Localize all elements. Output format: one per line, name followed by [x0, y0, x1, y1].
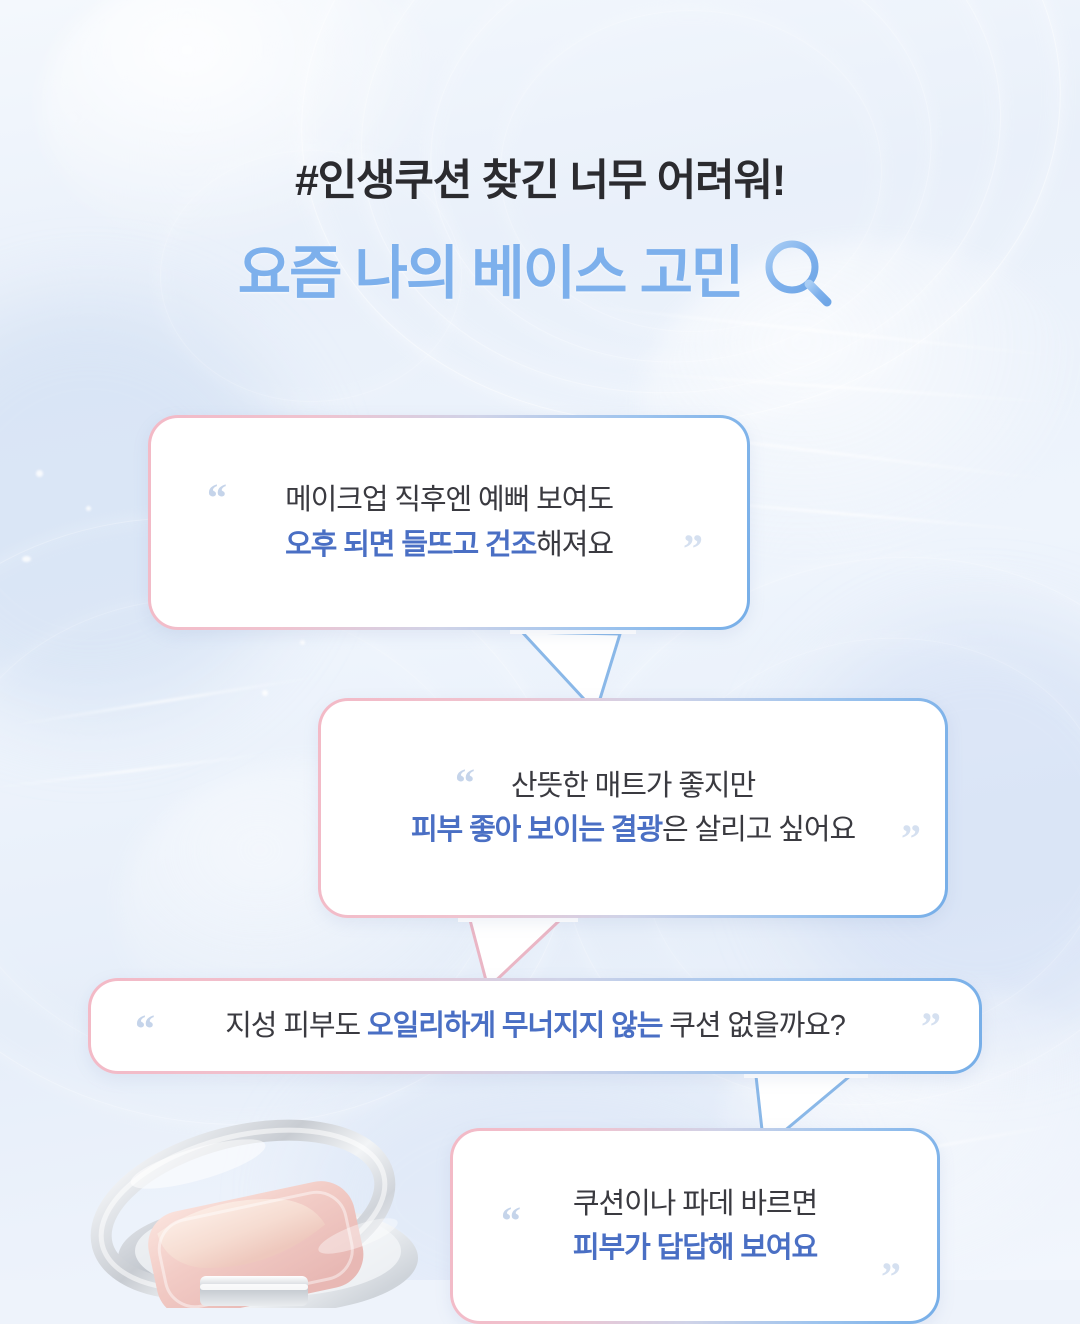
speech-bubble-3[interactable]: “ ” 지성 피부도 오일리하게 무너지지 않는 쿠션 없을까요? — [88, 978, 982, 1074]
sparkle — [300, 640, 305, 645]
magnifier-icon — [756, 234, 842, 320]
speech-bubble-1-text: 메이크업 직후엔 예뻐 보여도 오후 되면 들뜨고 건조해져요 — [285, 478, 613, 566]
bubble-1-line-2: 오후 되면 들뜨고 건조해져요 — [285, 523, 613, 567]
open-quote-icon: “ — [455, 763, 475, 803]
page-headline: #인생쿠션 찾긴 너무 어려워! — [0, 146, 1080, 208]
bubble-1-line-1-plain: 메이크업 직후엔 예뻐 보여도 — [285, 484, 613, 516]
bubble-2-line-2-plain: 은 살리고 싶어요 — [662, 814, 855, 846]
speech-bubble-3-body: “ ” 지성 피부도 오일리하게 무너지지 않는 쿠션 없을까요? — [91, 981, 979, 1071]
speech-bubble-1[interactable]: “ ” 메이크업 직후엔 예뻐 보여도 오후 되면 들뜨고 건조해져요 — [148, 415, 750, 630]
sparkle — [36, 470, 43, 477]
close-quote-icon: ” — [921, 1007, 941, 1047]
page-subheadline-row: 요즘 나의 베이스 고민 — [0, 228, 1080, 320]
bubble-4-line-1-plain: 쿠션이나 파데 바르면 — [573, 1188, 817, 1220]
bubble-4-line-1: 쿠션이나 파데 바르면 — [573, 1182, 817, 1226]
bubble-2-line-2: 피부 좋아 보이는 결광은 살리고 싶어요 — [411, 808, 855, 852]
bubble-3-line-1: 지성 피부도 오일리하게 무너지지 않는 쿠션 없을까요? — [225, 1004, 845, 1048]
bubble-2-line-1: 산뜻한 매트가 좋지만 — [411, 764, 855, 808]
speech-bubble-3-text: 지성 피부도 오일리하게 무너지지 않는 쿠션 없을까요? — [225, 1004, 845, 1048]
bubble-2-line-1-plain: 산뜻한 매트가 좋지만 — [511, 770, 755, 802]
bubble-1-line-2-bold: 오후 되면 들뜨고 건조 — [285, 529, 536, 561]
speech-bubble-4-text: 쿠션이나 파데 바르면 피부가 답답해 보여요 — [573, 1182, 817, 1270]
speech-bubble-2-text: 산뜻한 매트가 좋지만 피부 좋아 보이는 결광은 살리고 싶어요 — [411, 764, 855, 852]
bubble-4-line-2-bold: 피부가 답답해 보여요 — [573, 1232, 817, 1264]
speech-bubble-2-body: “ ” 산뜻한 매트가 좋지만 피부 좋아 보이는 결광은 살리고 싶어요 — [321, 701, 945, 915]
sparkle — [22, 556, 31, 562]
close-quote-icon: ” — [901, 819, 921, 859]
open-quote-icon: “ — [135, 1009, 155, 1049]
sparkle — [262, 690, 268, 696]
open-quote-icon: “ — [207, 478, 227, 518]
bubble-4-line-2: 피부가 답답해 보여요 — [573, 1226, 817, 1270]
speech-bubble-4-body: “ ” 쿠션이나 파데 바르면 피부가 답답해 보여요 — [453, 1131, 937, 1321]
speech-bubble-2[interactable]: “ ” 산뜻한 매트가 좋지만 피부 좋아 보이는 결광은 살리고 싶어요 — [318, 698, 948, 918]
sparkle — [86, 506, 91, 511]
bubble-3-line-1-plain2: 쿠션 없을까요? — [662, 1010, 844, 1042]
page-subheadline: 요즘 나의 베이스 고민 — [238, 241, 743, 308]
bubble-2-line-2-bold: 피부 좋아 보이는 결광 — [411, 814, 662, 846]
close-quote-icon: ” — [881, 1257, 901, 1297]
speech-bubble-4[interactable]: “ ” 쿠션이나 파데 바르면 피부가 답답해 보여요 — [450, 1128, 940, 1324]
bubble-1-line-1: 메이크업 직후엔 예뻐 보여도 — [285, 478, 613, 522]
speech-bubble-1-body: “ ” 메이크업 직후엔 예뻐 보여도 오후 되면 들뜨고 건조해져요 — [151, 418, 747, 627]
bubble-3-line-1-bold: 오일리하게 무너지지 않는 — [367, 1010, 662, 1042]
bubble-3-line-1-plain: 지성 피부도 — [225, 1010, 367, 1042]
bubble-1-line-2-plain: 해져요 — [536, 529, 613, 561]
close-quote-icon: ” — [683, 529, 703, 569]
open-quote-icon: “ — [501, 1201, 521, 1241]
